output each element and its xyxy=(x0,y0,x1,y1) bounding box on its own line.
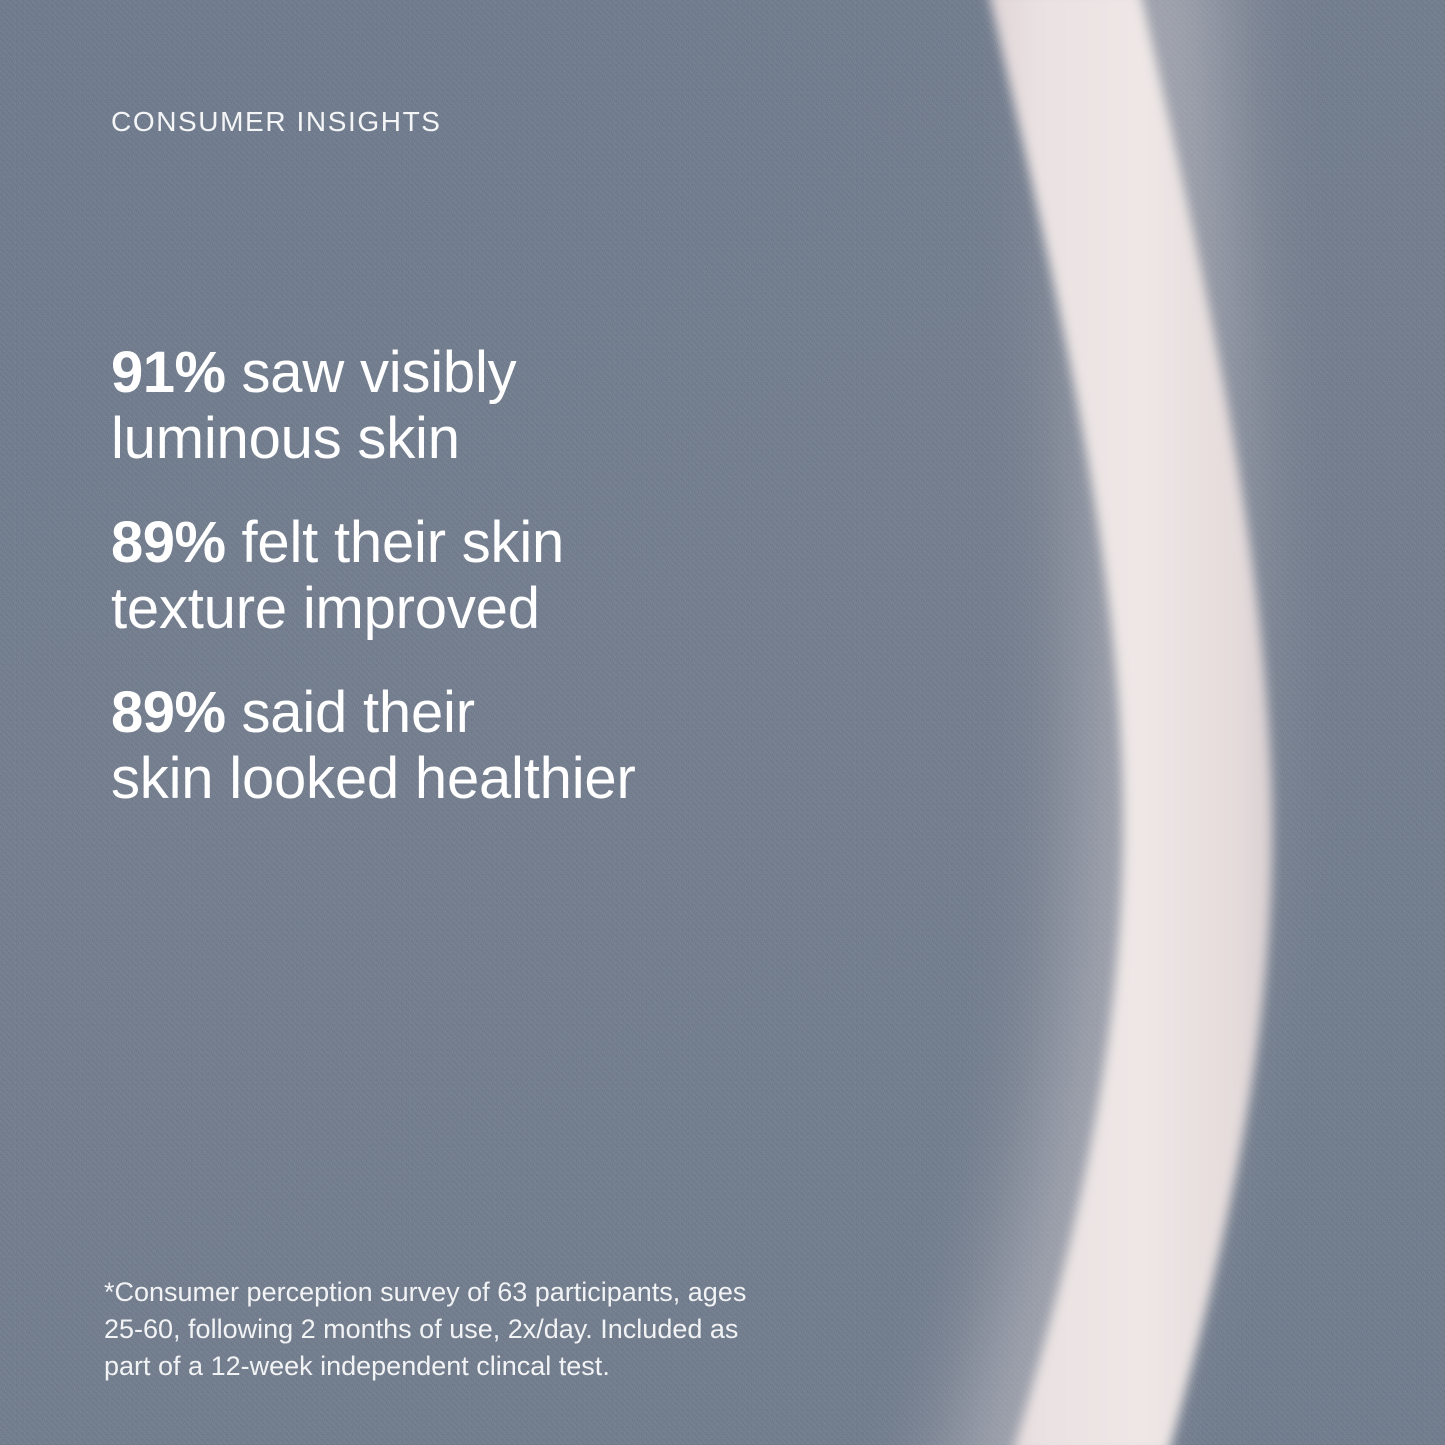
marketing-graphic: CONSUMER INSIGHTS 91% saw visibly lumino… xyxy=(0,0,1445,1445)
stat-item: 89% said their skin looked healthier xyxy=(111,680,891,812)
stat-line-primary-text: felt their skin xyxy=(226,510,565,575)
footnote-line-2: 25-60, following 2 months of use, 2x/day… xyxy=(104,1311,924,1348)
stat-line-secondary: texture improved xyxy=(111,576,891,642)
stat-line-primary-text: saw visibly xyxy=(226,340,517,405)
stat-percentage-value: 89% xyxy=(111,680,226,745)
stat-line-secondary: skin looked healthier xyxy=(111,746,891,812)
stat-line-secondary: luminous skin xyxy=(111,406,891,472)
stat-line-primary: 89% felt their skin xyxy=(111,510,891,576)
stat-item: 91% saw visibly luminous skin xyxy=(111,340,891,472)
footnote-disclaimer: *Consumer perception survey of 63 partic… xyxy=(104,1274,924,1385)
stat-line-primary: 91% saw visibly xyxy=(111,340,891,406)
stat-percentage-value: 89% xyxy=(111,510,226,575)
stat-item: 89% felt their skin texture improved xyxy=(111,510,891,642)
page-eyebrow-label: CONSUMER INSIGHTS xyxy=(111,106,442,138)
stats-list: 91% saw visibly luminous skin 89% felt t… xyxy=(111,340,891,812)
stat-line-primary-text: said their xyxy=(226,680,475,745)
footnote-line-1: *Consumer perception survey of 63 partic… xyxy=(104,1274,924,1311)
footnote-line-3: part of a 12-week independent clincal te… xyxy=(104,1348,924,1385)
stat-percentage-value: 91% xyxy=(111,340,226,405)
stat-line-primary: 89% said their xyxy=(111,680,891,746)
